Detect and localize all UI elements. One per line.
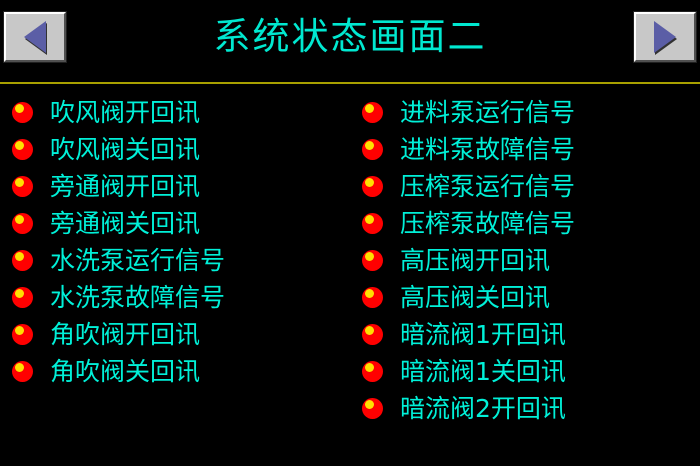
status-lamp-icon: [12, 287, 33, 308]
status-row[interactable]: 高压阀开回讯: [362, 242, 692, 279]
status-label: 压榨泵运行信号: [400, 173, 575, 201]
status-row[interactable]: 角吹阀开回讯: [12, 316, 342, 353]
page-title: 系统状态画面二: [0, 14, 700, 60]
status-lamp-icon: [362, 102, 383, 123]
status-lamp-icon: [362, 250, 383, 271]
status-column-left: 吹风阀开回讯吹风阀关回讯旁通阀开回讯旁通阀关回讯水洗泵运行信号水洗泵故障信号角吹…: [12, 94, 342, 390]
status-lamp-icon: [12, 213, 33, 234]
status-lamp-icon: [362, 324, 383, 345]
status-row[interactable]: 旁通阀关回讯: [12, 205, 342, 242]
status-label: 角吹阀关回讯: [50, 358, 200, 386]
status-lamp-icon: [362, 361, 383, 382]
header-divider: [0, 82, 700, 84]
status-lamp-icon: [12, 324, 33, 345]
status-row[interactable]: 进料泵故障信号: [362, 131, 692, 168]
status-row[interactable]: 暗流阀2开回讯: [362, 390, 692, 427]
status-lamp-icon: [12, 250, 33, 271]
status-label: 吹风阀关回讯: [50, 136, 200, 164]
status-row[interactable]: 压榨泵运行信号: [362, 168, 692, 205]
status-row[interactable]: 角吹阀关回讯: [12, 353, 342, 390]
status-row[interactable]: 压榨泵故障信号: [362, 205, 692, 242]
status-row[interactable]: 暗流阀1关回讯: [362, 353, 692, 390]
status-row[interactable]: 吹风阀开回讯: [12, 94, 342, 131]
status-label: 旁通阀开回讯: [50, 173, 200, 201]
status-lamp-icon: [12, 139, 33, 160]
status-lamp-icon: [12, 361, 33, 382]
status-row[interactable]: 旁通阀开回讯: [12, 168, 342, 205]
status-label: 暗流阀1关回讯: [400, 358, 566, 386]
status-row[interactable]: 进料泵运行信号: [362, 94, 692, 131]
status-label: 暗流阀2开回讯: [400, 395, 566, 423]
status-label: 压榨泵故障信号: [400, 210, 575, 238]
status-row[interactable]: 高压阀关回讯: [362, 279, 692, 316]
status-label: 进料泵故障信号: [400, 136, 575, 164]
status-row[interactable]: 吹风阀关回讯: [12, 131, 342, 168]
status-lamp-icon: [362, 139, 383, 160]
status-screen: 系统状态画面二 吹风阀开回讯吹风阀关回讯旁通阀开回讯旁通阀关回讯水洗泵运行信号水…: [0, 0, 700, 466]
status-label: 暗流阀1开回讯: [400, 321, 566, 349]
status-lamp-icon: [362, 398, 383, 419]
status-lamp-icon: [362, 287, 383, 308]
status-row[interactable]: 暗流阀1开回讯: [362, 316, 692, 353]
status-lamp-icon: [12, 102, 33, 123]
status-lamp-icon: [362, 213, 383, 234]
status-label: 高压阀关回讯: [400, 284, 550, 312]
status-column-right: 进料泵运行信号进料泵故障信号压榨泵运行信号压榨泵故障信号高压阀开回讯高压阀关回讯…: [362, 94, 692, 427]
status-label: 旁通阀关回讯: [50, 210, 200, 238]
status-label: 吹风阀开回讯: [50, 99, 200, 127]
status-lamp-icon: [12, 176, 33, 197]
status-row[interactable]: 水洗泵运行信号: [12, 242, 342, 279]
status-label: 高压阀开回讯: [400, 247, 550, 275]
status-label: 水洗泵运行信号: [50, 247, 225, 275]
status-label: 角吹阀开回讯: [50, 321, 200, 349]
status-row[interactable]: 水洗泵故障信号: [12, 279, 342, 316]
status-label: 水洗泵故障信号: [50, 284, 225, 312]
status-lamp-icon: [362, 176, 383, 197]
status-label: 进料泵运行信号: [400, 99, 575, 127]
